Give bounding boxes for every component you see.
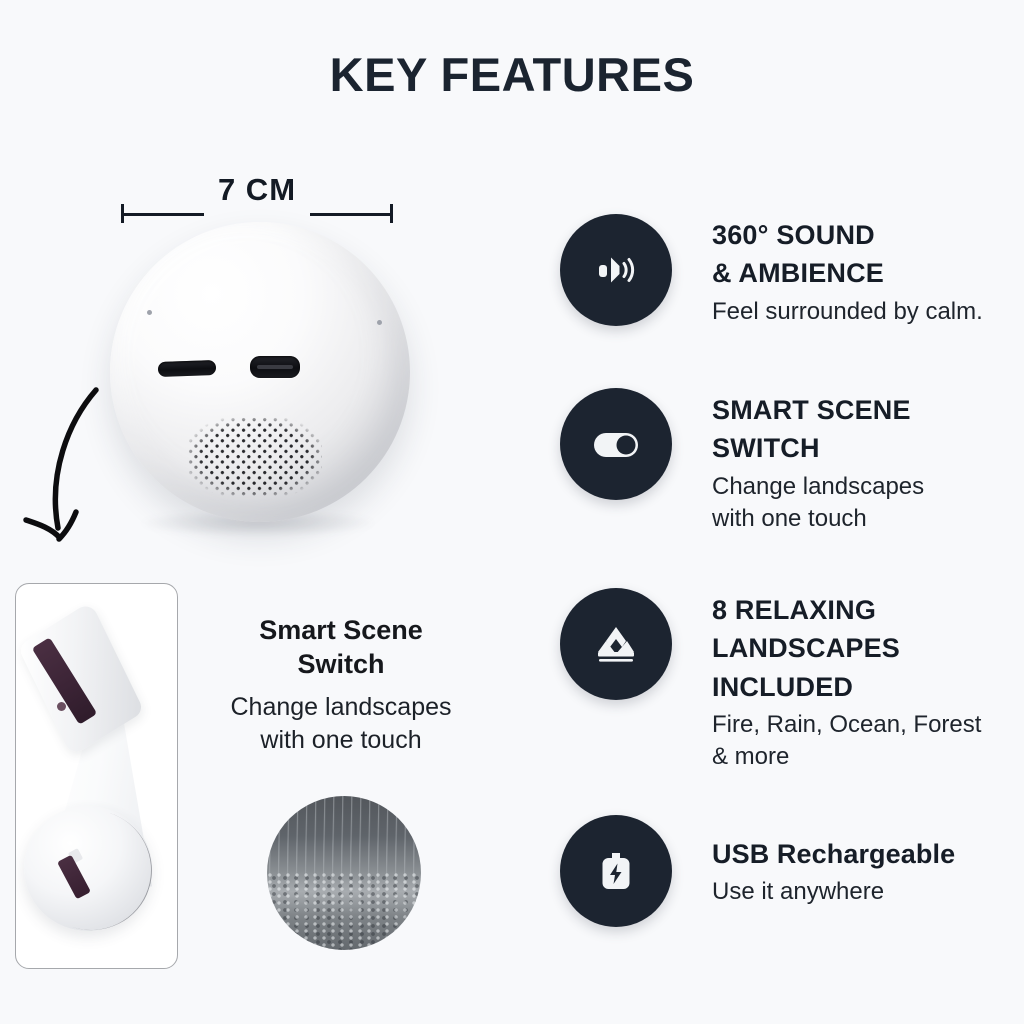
feature-text-switch: SMART SCENE SWITCH Change landscapes wit… (712, 391, 1012, 535)
product-image (110, 222, 420, 542)
feature-heading-line1: 360° SOUND (712, 216, 1012, 254)
detail-ellipse-seam (15, 794, 168, 946)
dimension-label: 7 CM (118, 172, 396, 208)
feature-text-usb: USB Rechargeable Use it anywhere (712, 835, 1012, 908)
feature-text-sound: 360° SOUND & AMBIENCE Feel surrounded by… (712, 216, 1012, 328)
feature-item-sound: 360° SOUND & AMBIENCE Feel surrounded by… (560, 200, 1020, 350)
feature-desc: Fire, Rain, Ocean, Forest & more (712, 709, 1012, 773)
caption-title: Smart Scene Switch (196, 613, 486, 681)
feature-desc-line1: Feel surrounded by calm. (712, 296, 1012, 328)
usb-c-port (250, 356, 300, 378)
dimension-bar-left (122, 213, 204, 216)
smart-scene-caption: Smart Scene Switch Change landscapes wit… (196, 613, 486, 756)
page-title: KEY FEATURES (0, 47, 1024, 102)
caption-title-line2: Switch (196, 647, 486, 681)
feature-heading: USB Rechargeable (712, 835, 1012, 873)
feature-desc-line2: with one touch (712, 503, 1012, 535)
caption-title-line1: Smart Scene (196, 613, 486, 647)
feature-text-landscapes: 8 RELAXING LANDSCAPES INCLUDED Fire, Rai… (712, 591, 1012, 773)
caption-sub-line2: with one touch (196, 724, 486, 757)
feature-desc: Feel surrounded by calm. (712, 296, 1012, 328)
feature-heading: SMART SCENE SWITCH (712, 391, 1012, 468)
feature-desc-line2: & more (712, 741, 1012, 773)
usb-c-port-inner (257, 365, 293, 369)
feature-heading: 360° SOUND & AMBIENCE (712, 216, 1012, 293)
feature-heading-line2: LANDSCAPES (712, 629, 1012, 667)
feature-heading-line1: SMART SCENE (712, 391, 1012, 429)
feature-desc: Use it anywhere (712, 876, 1012, 908)
feature-item-switch: SMART SCENE SWITCH Change landscapes wit… (560, 388, 1020, 558)
speaker-grille (188, 417, 322, 497)
curved-arrow-icon (18, 378, 148, 558)
dimension-end-cap-right (390, 204, 393, 223)
rain-splash-texture (267, 872, 421, 950)
feature-desc-line1: Change landscapes (712, 471, 1012, 503)
feature-desc-line1: Use it anywhere (712, 876, 1012, 908)
toggle-switch-icon (560, 388, 672, 500)
feature-desc: Change landscapes with one touch (712, 471, 1012, 535)
power-button-port (158, 360, 216, 377)
microphone-pinhole (147, 310, 152, 315)
rain-scene-thumbnail (267, 796, 421, 950)
dimension-indicator: 7 CM (118, 172, 396, 224)
caption-sub-line1: Change landscapes (196, 691, 486, 724)
dimension-bar-right (310, 213, 392, 216)
feature-heading-line3: INCLUDED (712, 668, 1012, 706)
mountain-landscape-icon (560, 588, 672, 700)
feature-item-usb: USB Rechargeable Use it anywhere (560, 815, 1020, 945)
battery-charge-icon (560, 815, 672, 927)
feature-heading-line1: 8 RELAXING (712, 591, 1012, 629)
feature-heading-line1: USB Rechargeable (712, 835, 1012, 873)
feature-heading: 8 RELAXING LANDSCAPES INCLUDED (712, 591, 1012, 706)
detail-top-dot (57, 702, 66, 711)
infographic-page: KEY FEATURES 7 CM (0, 0, 1024, 1024)
microphone-pinhole (377, 320, 382, 325)
dimension-line (118, 212, 396, 216)
sphere-speaker-body (110, 222, 410, 522)
feature-item-landscapes: 8 RELAXING LANDSCAPES INCLUDED Fire, Rai… (560, 588, 1020, 788)
feature-heading-line2: & AMBIENCE (712, 254, 1012, 292)
caption-subtitle: Change landscapes with one touch (196, 691, 486, 756)
feature-desc-line1: Fire, Rain, Ocean, Forest (712, 709, 1012, 741)
product-detail-card (15, 583, 178, 969)
feature-heading-line2: SWITCH (712, 429, 1012, 467)
speaker-sound-icon (560, 214, 672, 326)
